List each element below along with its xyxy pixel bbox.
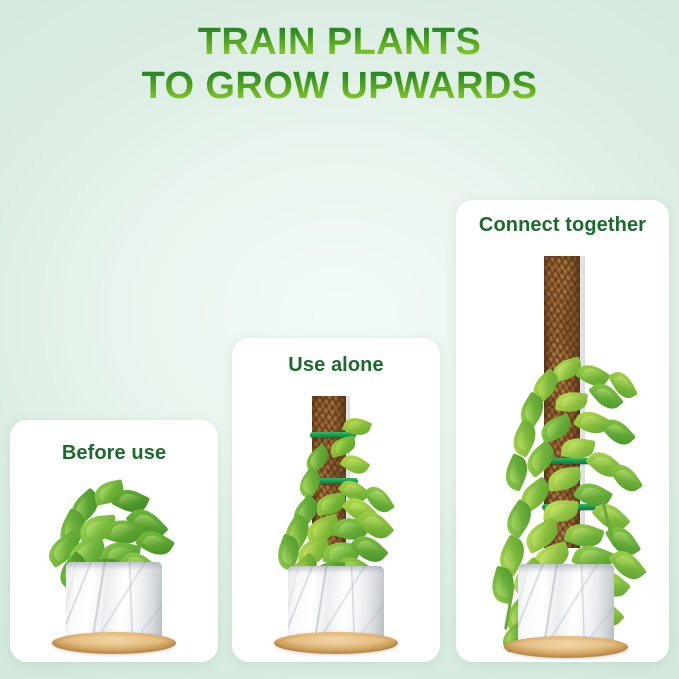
title-line-2: TO GROW UPWARDS (0, 66, 679, 106)
infographic-canvas: TRAIN PLANTS TO GROW UPWARDS Before use (0, 0, 679, 679)
page-title: TRAIN PLANTS TO GROW UPWARDS (0, 22, 679, 107)
wooden-saucer (504, 636, 628, 658)
connect-together-illustration (456, 200, 669, 662)
card-connect-together[interactable]: Connect together (456, 200, 669, 662)
card-use-alone[interactable]: Use alone (232, 338, 440, 662)
title-line-1: TRAIN PLANTS (0, 22, 679, 62)
wooden-saucer (274, 632, 398, 654)
wooden-saucer (52, 632, 176, 654)
card-before-use[interactable]: Before use (10, 420, 218, 662)
before-use-illustration (10, 420, 218, 662)
use-alone-illustration (232, 338, 440, 662)
